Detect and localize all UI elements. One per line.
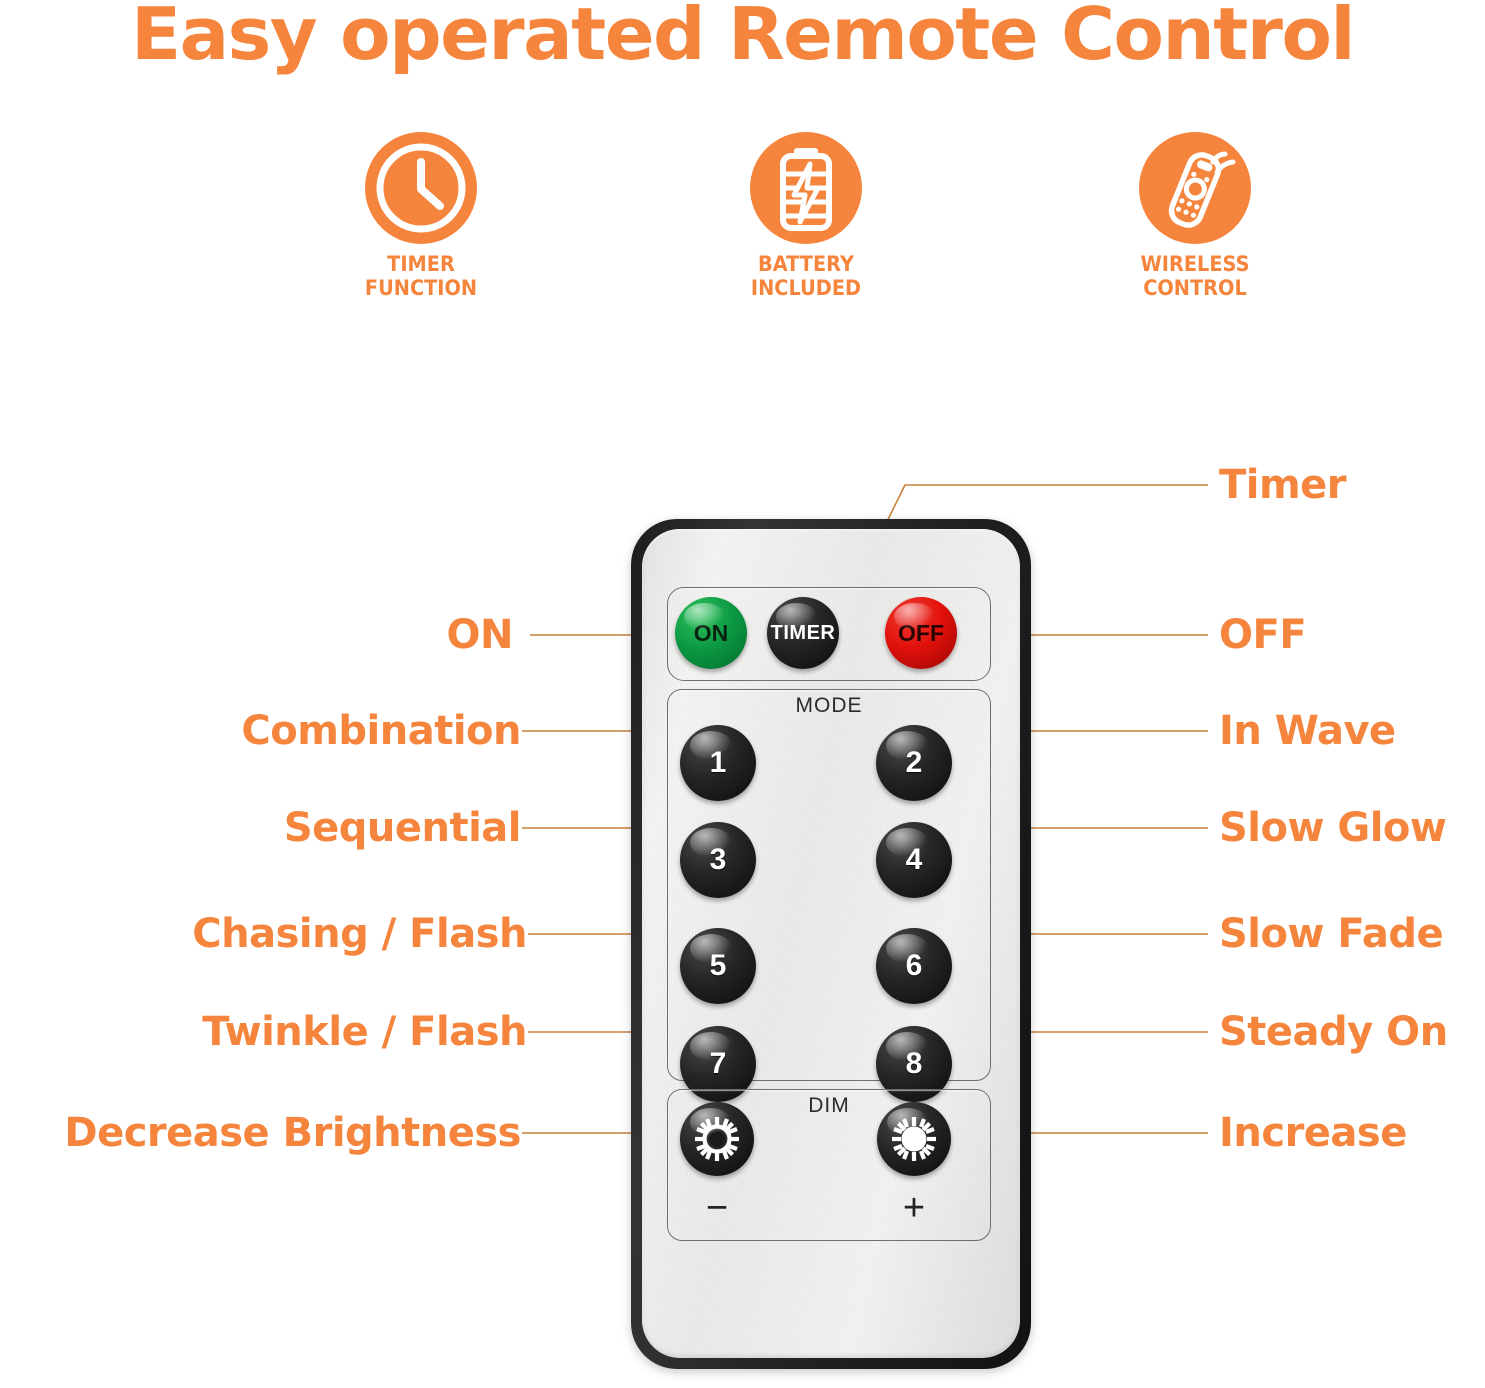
remote-signal-icon [1139,132,1251,244]
mode-panel-title: MODE [668,694,990,718]
mode-button-label: 8 [906,1047,923,1081]
remote-faceplate: ON TIMER OFF MODE 1 2 3 4 5 6 7 8 D [642,529,1020,1358]
callout-steady-on: Steady On [1219,1010,1448,1054]
battery-icon [750,132,862,244]
feature-label: TIMER FUNCTION [311,252,532,300]
callout-twinkle-flash: Twinkle / Flash [202,1010,527,1054]
remote-control-device: ON TIMER OFF MODE 1 2 3 4 5 6 7 8 D [631,519,1031,1369]
callout-in-wave: In Wave [1219,709,1396,753]
mode-button-5[interactable]: 5 [680,928,756,1004]
feature-label-line1: TIMER [311,252,532,276]
callout-timer: Timer [1219,463,1346,507]
mode-button-label: 7 [710,1047,727,1081]
decrease-brightness-button[interactable] [680,1102,754,1176]
timer-button[interactable]: TIMER [767,597,839,669]
mode-button-1[interactable]: 1 [680,725,756,801]
callout-off: OFF [1219,613,1306,657]
feature-badges: TIMER FUNCTION BATTERY INCLUDED [0,132,1485,322]
mode-button-label: 2 [906,746,923,780]
mode-button-3[interactable]: 3 [680,822,756,898]
off-button[interactable]: OFF [885,597,957,669]
decrease-sign: − [687,1189,747,1227]
on-button[interactable]: ON [675,597,747,669]
feature-label-line2: CONTROL [1085,276,1306,300]
callout-combination: Combination [241,709,521,753]
callout-slow-fade: Slow Fade [1219,912,1443,956]
feature-label-line1: WIRELESS [1085,252,1306,276]
page-title: Easy operated Remote Control [0,0,1485,76]
timer-button-label: TIMER [771,622,836,645]
mode-button-label: 1 [710,746,727,780]
callout-slow-glow: Slow Glow [1219,806,1446,850]
mode-button-4[interactable]: 4 [876,822,952,898]
mode-button-label: 5 [710,949,727,983]
mode-button-label: 6 [906,949,923,983]
off-button-label: OFF [898,620,944,647]
feature-label-line2: INCLUDED [696,276,917,300]
clock-icon [365,132,477,244]
feature-label-line1: BATTERY [696,252,917,276]
mode-button-6[interactable]: 6 [876,928,952,1004]
feature-label-line2: FUNCTION [311,276,532,300]
increase-brightness-button[interactable] [877,1102,951,1176]
increase-sign: + [884,1189,944,1227]
sun-filled-icon [691,1113,743,1165]
sun-hollow-icon [888,1113,940,1165]
mode-button-label: 3 [710,843,727,877]
callout-increase: Increase [1219,1111,1407,1155]
callout-on: ON [447,613,513,657]
on-button-label: ON [694,620,729,647]
feature-wireless-control: WIRELESS CONTROL [1075,132,1315,300]
callout-sequential: Sequential [284,806,521,850]
feature-battery-included: BATTERY INCLUDED [686,132,926,300]
feature-label: BATTERY INCLUDED [696,252,917,300]
callout-decrease-brightness: Decrease Brightness [64,1111,521,1155]
mode-button-2[interactable]: 2 [876,725,952,801]
mode-button-label: 4 [906,843,923,877]
feature-timer-function: TIMER FUNCTION [301,132,541,300]
callout-chasing-flash: Chasing / Flash [192,912,527,956]
feature-label: WIRELESS CONTROL [1085,252,1306,300]
